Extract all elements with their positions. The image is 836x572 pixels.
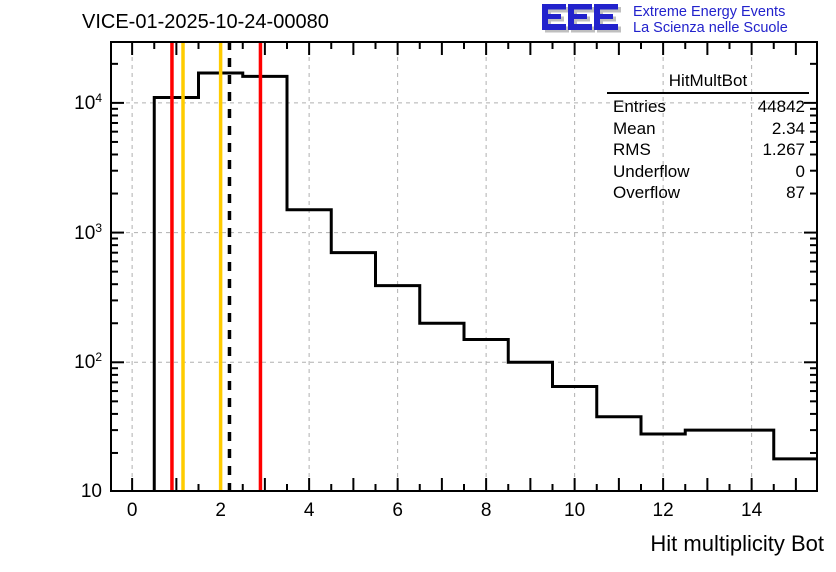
stats-row-value: 0 xyxy=(796,161,805,183)
page-title: VICE-01-2025-10-24-00080 xyxy=(82,11,329,34)
logo-line-1: Extreme Energy Events xyxy=(633,4,788,20)
stats-row: RMS1.267 xyxy=(607,139,809,161)
x-tick-label: 10 xyxy=(564,500,585,522)
stats-row-value: 87 xyxy=(786,182,805,204)
x-tick-label: 4 xyxy=(304,500,315,522)
y-tick-label: 102 xyxy=(0,350,102,374)
x-tick-label: 12 xyxy=(653,500,674,522)
logo-line-2: La Scienza nelle Scuole xyxy=(633,20,788,36)
stats-row-value: 44842 xyxy=(758,96,805,118)
stats-row: Underflow0 xyxy=(607,161,809,183)
y-tick-label: 104 xyxy=(0,91,102,115)
stats-box: HitMultBot Entries44842Mean2.34RMS1.267U… xyxy=(607,71,809,204)
stats-row: Mean2.34 xyxy=(607,118,809,140)
x-tick-label: 2 xyxy=(215,500,226,522)
stats-title: HitMultBot xyxy=(607,71,809,94)
x-tick-label: 8 xyxy=(481,500,492,522)
stats-row-key: Entries xyxy=(613,96,666,118)
eee-logo-mark xyxy=(541,3,625,37)
x-tick-label: 6 xyxy=(392,500,403,522)
eee-logo: Extreme Energy Events La Scienza nelle S… xyxy=(541,3,833,39)
x-axis-title: Hit multiplicity Bot xyxy=(650,531,824,557)
stats-row-value: 2.34 xyxy=(772,118,805,140)
stats-row: Entries44842 xyxy=(607,96,809,118)
x-tick-label: 14 xyxy=(741,500,762,522)
stats-row-value: 1.267 xyxy=(762,139,805,161)
stats-row-key: RMS xyxy=(613,139,651,161)
stats-row: Overflow87 xyxy=(607,182,809,204)
y-tick-label: 103 xyxy=(0,220,102,244)
stats-row-key: Underflow xyxy=(613,161,690,183)
stats-row-key: Overflow xyxy=(613,182,680,204)
x-tick-label: 0 xyxy=(127,500,138,522)
y-tick-label: 10 xyxy=(0,481,102,503)
stats-row-key: Mean xyxy=(613,118,656,140)
eee-logo-text: Extreme Energy Events La Scienza nelle S… xyxy=(633,4,788,36)
